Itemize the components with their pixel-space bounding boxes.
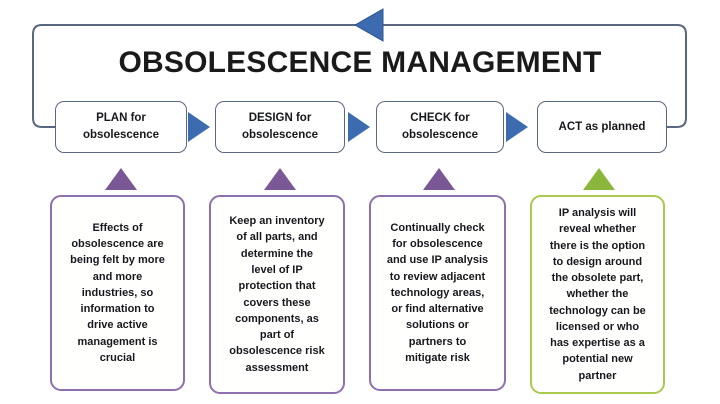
obsolescence-management-diagram: OBSOLESCENCE MANAGEMENT PLAN for obsoles… <box>0 0 720 404</box>
stage-label-check: CHECK for obsolescence <box>377 110 503 143</box>
stage-box-design[interactable]: DESIGN for obsolescence <box>215 101 345 153</box>
detail-card-design[interactable]: Keep an inventory of all parts, and dete… <box>209 195 345 394</box>
arrow-right-icon-check-to-act <box>506 112 528 142</box>
triangle-up-icon-check <box>423 168 455 190</box>
stage-box-check[interactable]: CHECK for obsolescence <box>376 101 504 153</box>
loop-arrowhead-icon <box>355 9 383 41</box>
detail-card-act[interactable]: IP analysis will reveal whether there is… <box>530 195 665 394</box>
arrow-right-icon-design-to-check <box>348 112 370 142</box>
stage-label-plan: PLAN for obsolescence <box>56 110 186 143</box>
triangle-up-icon-act <box>583 168 615 190</box>
triangle-up-icon-plan <box>105 168 137 190</box>
page-title: OBSOLESCENCE MANAGEMENT <box>0 46 720 80</box>
triangle-up-icon-design <box>264 168 296 190</box>
stage-box-plan[interactable]: PLAN for obsolescence <box>55 101 187 153</box>
detail-text-act: IP analysis will reveal whether there is… <box>540 201 655 388</box>
detail-card-check[interactable]: Continually check for obsolescence and u… <box>369 195 506 391</box>
stage-label-design: DESIGN for obsolescence <box>216 110 344 143</box>
detail-text-design: Keep an inventory of all parts, and dete… <box>220 209 333 380</box>
stage-label-act: ACT as planned <box>555 119 650 136</box>
stage-box-act[interactable]: ACT as planned <box>537 101 667 153</box>
detail-card-plan[interactable]: Effects of obsolescence are being felt b… <box>50 195 185 391</box>
arrow-right-icon-plan-to-design <box>188 112 210 142</box>
detail-text-check: Continually check for obsolescence and u… <box>378 216 497 370</box>
detail-text-plan: Effects of obsolescence are being felt b… <box>61 216 174 370</box>
